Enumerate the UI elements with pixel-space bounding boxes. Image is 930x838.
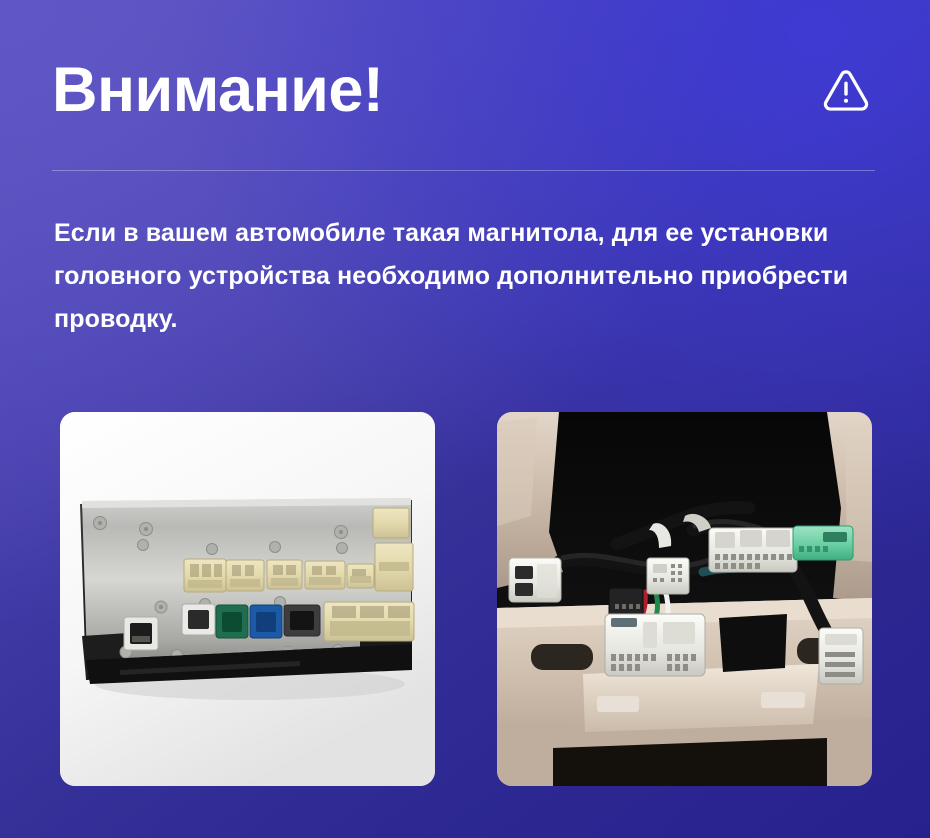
- banner-header: Внимание!: [52, 50, 875, 130]
- header-divider: [52, 170, 875, 171]
- photo-gallery: [60, 412, 872, 786]
- page-title: Внимание!: [52, 59, 383, 122]
- warning-triangle-icon: [821, 65, 875, 115]
- car-head-unit-rear-photo: [60, 412, 435, 786]
- warning-banner: Внимание! Если в вашем автомобиле такая …: [0, 0, 930, 838]
- dashboard-wiring-harness-photo: [497, 412, 872, 786]
- warning-body-text: Если в вашем автомобиле такая магнитола,…: [54, 212, 882, 341]
